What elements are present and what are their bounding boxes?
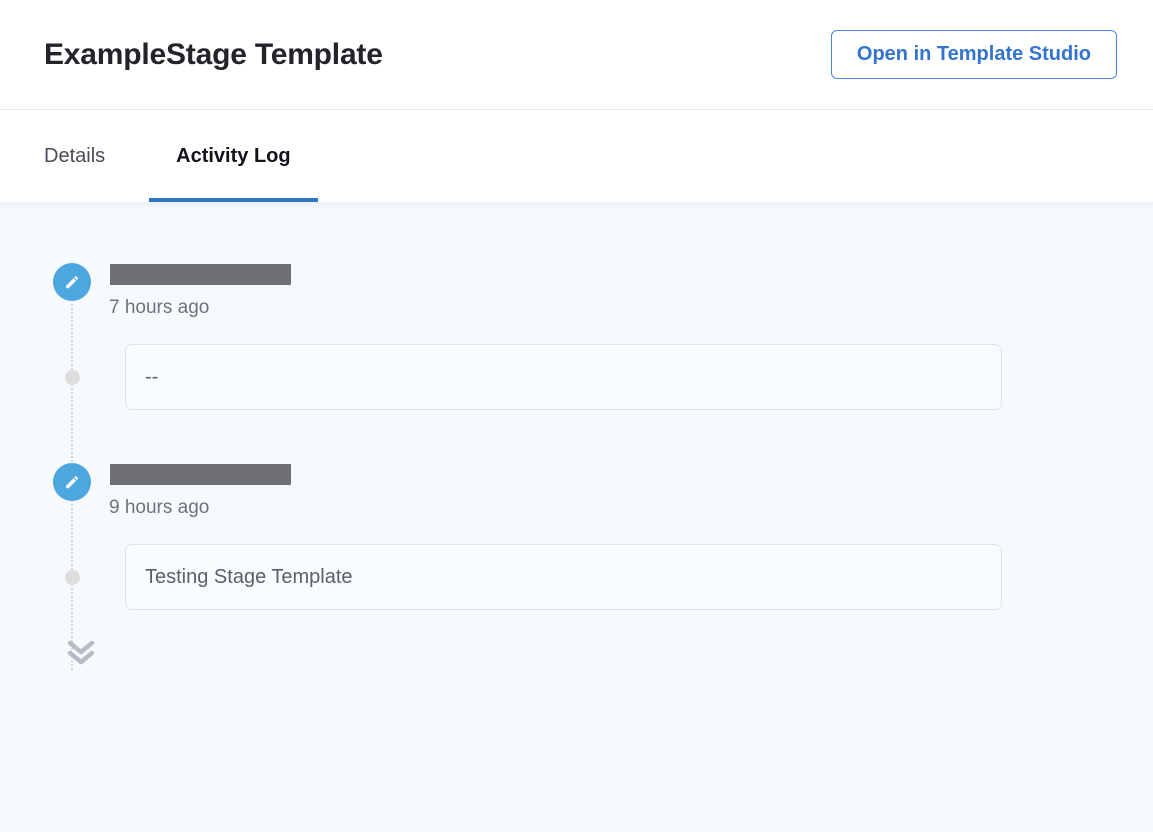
activity-version-link[interactable]: v1 xyxy=(184,459,206,489)
chevron-double-down-icon[interactable] xyxy=(63,636,99,670)
activity-actor-name: i xyxy=(109,462,114,485)
activity-note-row: -- xyxy=(53,344,1153,410)
activity-entry-summary: i created v1 xyxy=(109,459,209,489)
tab-bar: Details Activity Log xyxy=(0,110,1153,202)
activity-timestamp: 7 hours ago xyxy=(109,295,212,321)
activity-entry-header: i updated v1 7 hours ago xyxy=(53,258,1153,321)
activity-action-label: created xyxy=(114,459,184,489)
timeline-dot xyxy=(65,370,80,385)
activity-note-box: -- xyxy=(125,344,1002,410)
activity-entry-summary: i updated v1 xyxy=(109,259,212,289)
activity-entry: i updated v1 7 hours ago -- xyxy=(53,258,1153,410)
tab-details-label: Details xyxy=(44,145,105,168)
activity-entry: i created v1 9 hours ago Testing Stage T… xyxy=(53,458,1153,610)
tab-activity-log[interactable]: Activity Log xyxy=(149,110,317,202)
activity-note-box: Testing Stage Template xyxy=(125,544,1002,610)
timeline-spacer xyxy=(53,418,1153,458)
timeline-dot xyxy=(65,570,80,585)
page-header: ExampleStage Template Open in Template S… xyxy=(0,0,1153,110)
tab-bar-shadow xyxy=(0,202,1153,210)
activity-entry-header: i created v1 9 hours ago xyxy=(53,458,1153,521)
activity-version-link[interactable]: v1 xyxy=(190,259,212,289)
pencil-icon xyxy=(53,263,91,301)
open-in-template-studio-button[interactable]: Open in Template Studio xyxy=(831,30,1117,79)
activity-actor-name: i xyxy=(109,262,114,285)
activity-actor-link[interactable]: i xyxy=(109,259,114,289)
tab-activity-log-label: Activity Log xyxy=(176,145,290,168)
activity-entry-text: i updated v1 7 hours ago xyxy=(109,258,212,321)
activity-action-label: updated xyxy=(114,259,190,289)
tab-details[interactable]: Details xyxy=(44,110,149,202)
activity-entry-text: i created v1 9 hours ago xyxy=(109,458,209,521)
activity-timeline: i updated v1 7 hours ago -- xyxy=(0,258,1153,670)
activity-timestamp: 9 hours ago xyxy=(109,495,209,521)
activity-log-panel: i updated v1 7 hours ago -- xyxy=(0,210,1153,832)
activity-actor-link[interactable]: i xyxy=(109,459,114,489)
pencil-icon xyxy=(53,463,91,501)
page-title: ExampleStage Template xyxy=(44,38,383,71)
activity-note-row: Testing Stage Template xyxy=(53,544,1153,610)
